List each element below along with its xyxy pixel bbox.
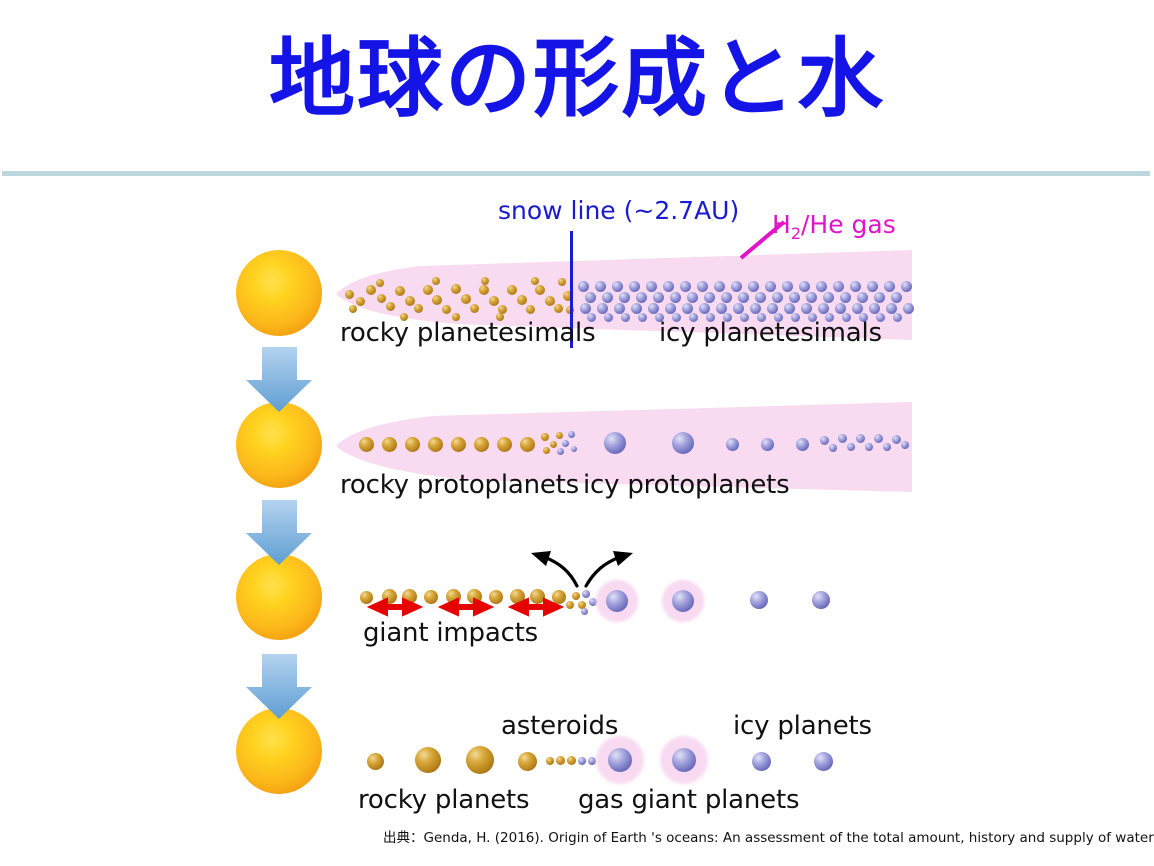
icy-planets-label: icy planets bbox=[733, 711, 872, 741]
gas-label: H2/He gas bbox=[772, 210, 896, 243]
asteroids-label: asteroids bbox=[501, 711, 618, 741]
giant-impact-arrows bbox=[374, 602, 557, 612]
gas-label-text: H bbox=[772, 210, 791, 239]
sun-stage-3 bbox=[236, 554, 322, 640]
slide-canvas: 地球の形成と水 bbox=[0, 0, 1154, 866]
sun-stage-1 bbox=[236, 250, 322, 336]
rocky-planets-label: rocky planets bbox=[358, 785, 529, 815]
page-title: 地球の形成と水 bbox=[0, 36, 1154, 122]
gas-label-sub: 2 bbox=[791, 224, 801, 243]
gas-label-suffix: /He gas bbox=[801, 210, 896, 239]
header-divider bbox=[2, 171, 1150, 176]
source-citation: 出典：Genda, H. (2016). Origin of Earth 's … bbox=[383, 826, 1154, 846]
sun-stage-4 bbox=[236, 708, 322, 794]
sun-stage-2 bbox=[236, 402, 322, 488]
scatter-arrow-heads bbox=[531, 551, 633, 566]
icy-planetesimals-label: icy planetesimals bbox=[659, 318, 882, 348]
giant-impacts-label: giant impacts bbox=[363, 618, 538, 648]
icy-protoplanets-label: icy protoplanets bbox=[583, 470, 789, 500]
snow-line-label: snow line (~2.7AU) bbox=[498, 196, 739, 225]
rocky-protoplanets-label: rocky protoplanets bbox=[340, 470, 579, 500]
rocky-planetesimals-label: rocky planetesimals bbox=[340, 318, 595, 348]
gas-giant-planets-label: gas giant planets bbox=[578, 785, 799, 815]
